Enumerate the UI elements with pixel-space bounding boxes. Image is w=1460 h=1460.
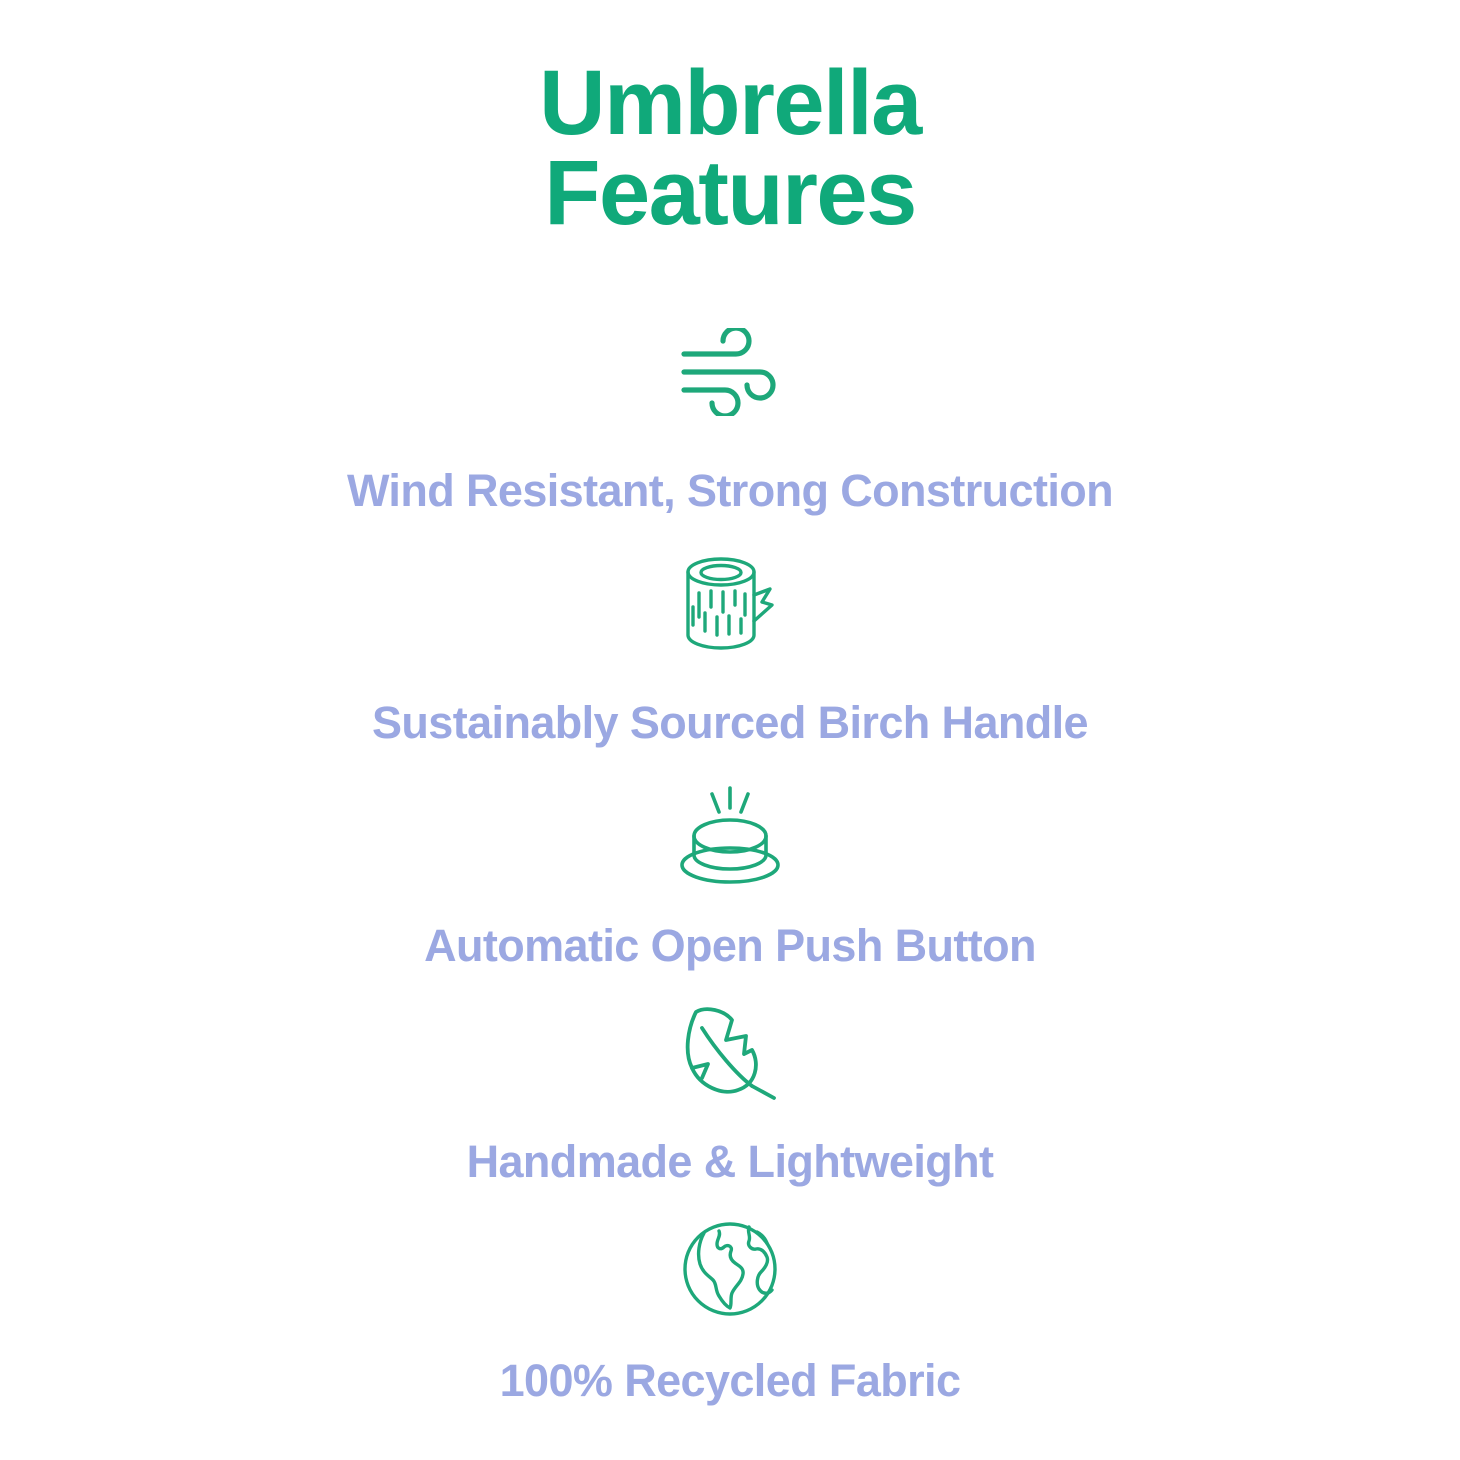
wind-icon xyxy=(0,320,1460,424)
feather-icon xyxy=(0,991,1460,1115)
wood-log-icon xyxy=(0,548,1460,666)
globe-icon xyxy=(0,1210,1460,1328)
umbrella-features-infographic: Umbrella Features Wind Resistant, Strong… xyxy=(0,0,1460,1460)
feature-label: 100% Recycled Fabric xyxy=(0,1356,1460,1406)
page-title-line-1: Umbrella xyxy=(0,58,1460,148)
feature-label: Wind Resistant, Strong Construction xyxy=(0,466,1460,516)
feature-item: 100% Recycled Fabric xyxy=(0,1210,1460,1406)
feature-item: Wind Resistant, Strong Construction xyxy=(0,320,1460,516)
feature-label: Handmade & Lightweight xyxy=(0,1137,1460,1187)
page-title-line-2: Features xyxy=(0,148,1460,238)
feature-list: Wind Resistant, Strong Construction xyxy=(0,320,1460,1414)
feature-item: Automatic Open Push Button xyxy=(0,773,1460,971)
push-button-icon xyxy=(0,773,1460,899)
page-title: Umbrella Features xyxy=(0,58,1460,238)
feature-item: Handmade & Lightweight xyxy=(0,991,1460,1187)
feature-label: Automatic Open Push Button xyxy=(0,921,1460,971)
feature-label: Sustainably Sourced Birch Handle xyxy=(0,698,1460,748)
feature-item: Sustainably Sourced Birch Handle xyxy=(0,548,1460,748)
